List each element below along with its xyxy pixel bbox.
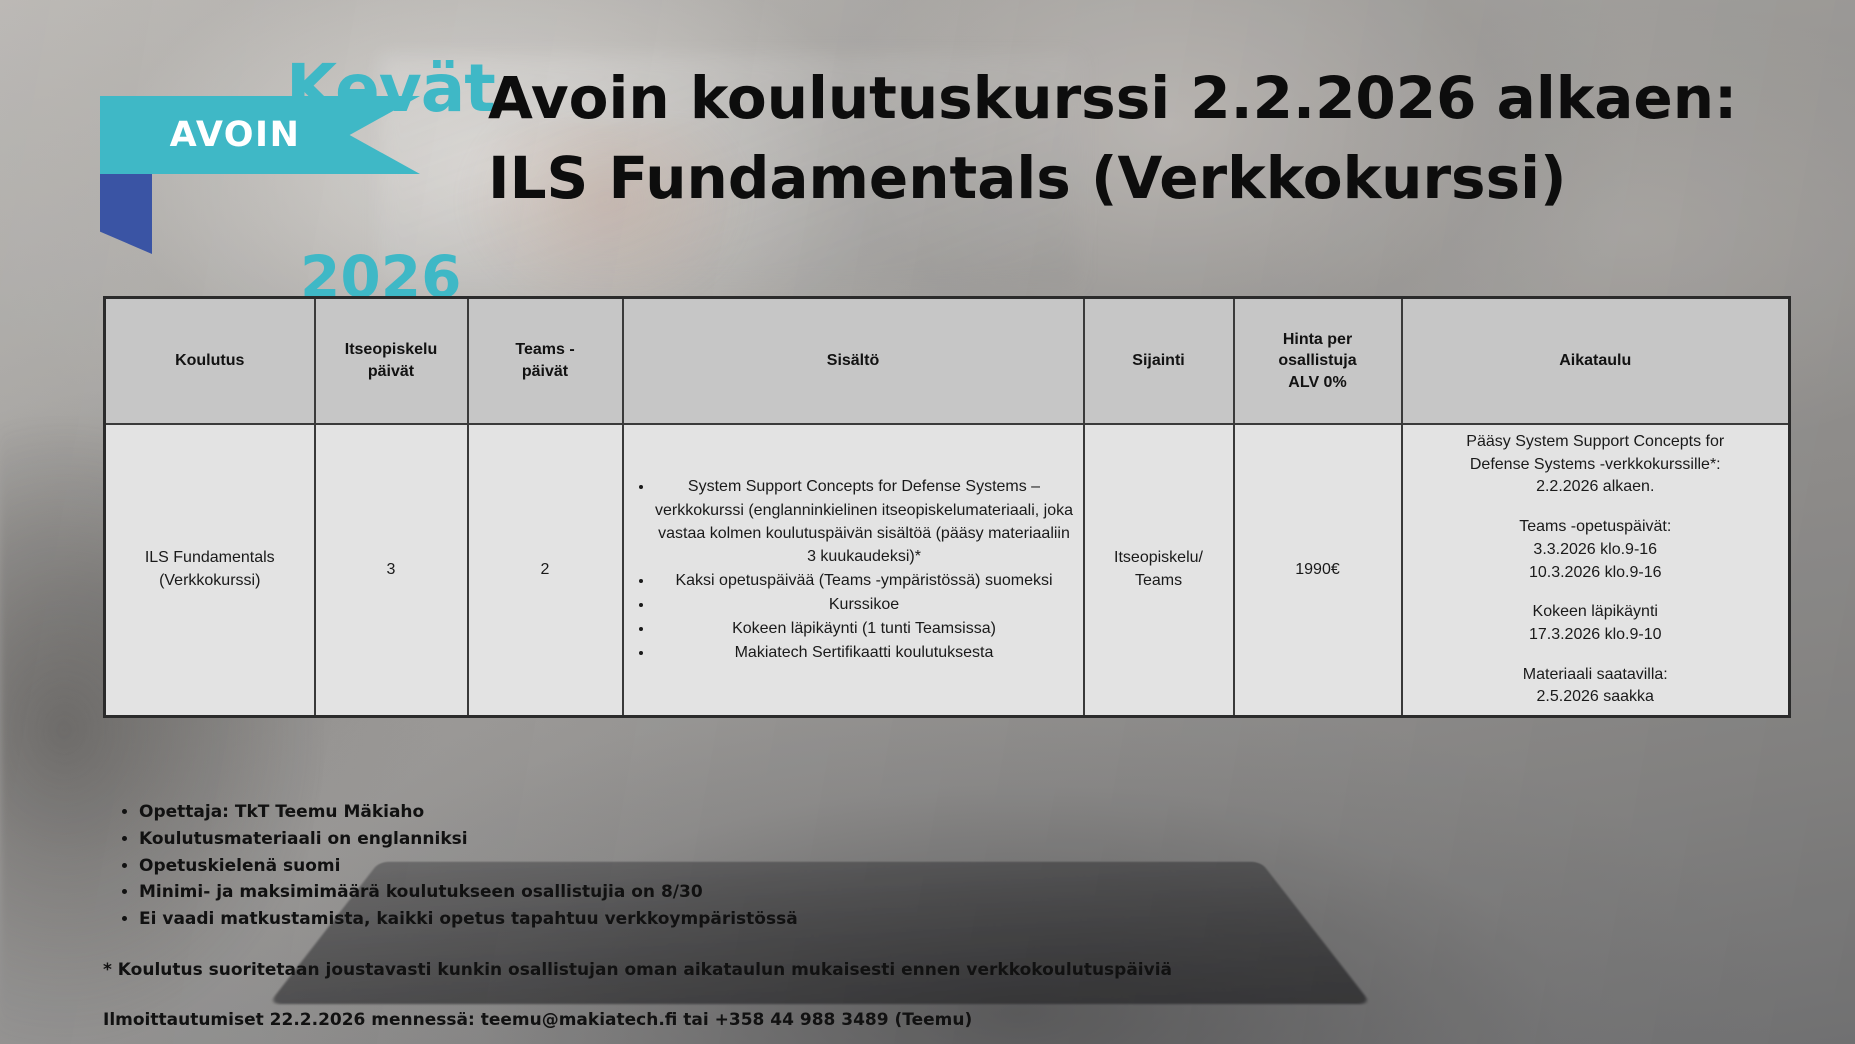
cell-koulutus-line1: ILS Fundamentals (114, 547, 306, 570)
cell-koulutus-line2: (Verkkokurssi) (114, 570, 306, 593)
column-header-hinta-line2: osallistuja (1243, 350, 1393, 372)
table-row: ILS Fundamentals (Verkkokurssi) 3 2 Syst… (105, 424, 1790, 717)
table-body: ILS Fundamentals (Verkkokurssi) 3 2 Syst… (105, 424, 1790, 717)
column-header-hinta-line1: Hinta per (1243, 329, 1393, 351)
list-item: Opetuskielenä suomi (139, 854, 1239, 880)
cell-teams-paivat: 2 (468, 424, 623, 717)
schedule-material-line1: Materiaali saatavilla: (1411, 664, 1781, 687)
schedule-access-line1: Pääsy System Support Concepts for (1411, 431, 1781, 454)
column-header-aikataulu-text: Aikataulu (1559, 352, 1631, 369)
cell-sijainti-line1: Itseopiskelu/ (1093, 547, 1225, 570)
schedule-spacer (1411, 584, 1781, 601)
list-item: Minimi- ja maksimimäärä koulutukseen osa… (139, 880, 1239, 906)
schedule-block-access: Pääsy System Support Concepts for Defens… (1411, 431, 1781, 499)
schedule-teams-line2: 3.3.2026 klo.9-16 (1411, 539, 1781, 562)
schedule-block-teams: Teams -opetuspäivät: 3.3.2026 klo.9-16 1… (1411, 516, 1781, 584)
footnote-text: * Koulutus suoritetaan joustavasti kunki… (103, 960, 1172, 980)
schedule-spacer (1411, 647, 1781, 664)
sisalto-list: System Support Concepts for Defense Syst… (632, 475, 1075, 663)
column-header-teams-paivat: Teams - päivät (468, 298, 623, 425)
cell-itseopiskelu-paivat: 3 (315, 424, 468, 717)
schedule-exam-line2: 17.3.2026 klo.9-10 (1411, 624, 1781, 647)
list-item: Kurssikoe (654, 593, 1075, 616)
column-header-teams-line2: päivät (477, 361, 614, 383)
column-header-itseopiskelu-paivat: Itseopiskelu päivät (315, 298, 468, 425)
season-banner: Kevät AVOIN 2026 (100, 48, 440, 258)
cell-sisalto: System Support Concepts for Defense Syst… (623, 424, 1084, 717)
cell-hinta: 1990€ (1234, 424, 1402, 717)
column-header-teams-line1: Teams - (477, 339, 614, 361)
list-item: System Support Concepts for Defense Syst… (654, 475, 1075, 567)
schedule-block-exam: Kokeen läpikäynti 17.3.2026 klo.9-10 (1411, 601, 1781, 646)
course-table: Koulutus Itseopiskelu päivät Teams - päi… (103, 296, 1791, 718)
schedule-block-material: Materiaali saatavilla: 2.5.2026 saakka (1411, 664, 1781, 709)
table-header: Koulutus Itseopiskelu päivät Teams - päi… (105, 298, 1790, 425)
column-header-itseopiskelu-line2: päivät (324, 361, 459, 383)
column-header-hinta: Hinta per osallistuja ALV 0% (1234, 298, 1402, 425)
column-header-sijainti-text: Sijainti (1132, 352, 1184, 369)
banner-tag-label: AVOIN (100, 96, 370, 174)
list-item: Makiatech Sertifikaatti koulutuksesta (654, 641, 1075, 664)
column-header-sisalto-text: Sisältö (827, 352, 879, 369)
cell-koulutus: ILS Fundamentals (Verkkokurssi) (105, 424, 315, 717)
cell-sijainti-line2: Teams (1093, 570, 1225, 593)
page-title-line-1: Avoin koulutuskurssi 2.2.2026 alkaen: (488, 58, 1798, 138)
banner-ribbon-tail (100, 174, 152, 254)
page-title-line-2: ILS Fundamentals (Verkkokurssi) (488, 138, 1798, 218)
page-title: Avoin koulutuskurssi 2.2.2026 alkaen: IL… (488, 58, 1798, 218)
list-item: Kokeen läpikäynti (1 tunti Teamsissa) (654, 617, 1075, 640)
cell-aikataulu: Pääsy System Support Concepts for Defens… (1402, 424, 1790, 717)
column-header-sisalto: Sisältö (623, 298, 1084, 425)
column-header-itseopiskelu-line1: Itseopiskelu (324, 339, 459, 361)
notes-list: Opettaja: TkT Teemu Mäkiaho Koulutusmate… (103, 800, 1239, 934)
schedule-exam-line1: Kokeen läpikäynti (1411, 601, 1781, 624)
column-header-hinta-line3: ALV 0% (1243, 372, 1393, 394)
list-item: Kaksi opetuspäivää (Teams -ympäristössä)… (654, 569, 1075, 592)
list-item: Ei vaadi matkustamista, kaikki opetus ta… (139, 907, 1239, 933)
schedule-teams-line3: 10.3.2026 klo.9-16 (1411, 562, 1781, 585)
schedule-teams-line1: Teams -opetuspäivät: (1411, 516, 1781, 539)
list-item: Koulutusmateriaali on englanniksi (139, 827, 1239, 853)
column-header-aikataulu: Aikataulu (1402, 298, 1790, 425)
column-header-sijainti: Sijainti (1084, 298, 1234, 425)
schedule-spacer (1411, 499, 1781, 516)
cell-sijainti: Itseopiskelu/ Teams (1084, 424, 1234, 717)
schedule-access-line3: 2.2.2026 alkaen. (1411, 476, 1781, 499)
column-header-koulutus: Koulutus (105, 298, 315, 425)
list-item: Opettaja: TkT Teemu Mäkiaho (139, 800, 1239, 826)
column-header-koulutus-text: Koulutus (175, 352, 244, 369)
schedule-material-line2: 2.5.2026 saakka (1411, 686, 1781, 709)
schedule-access-line2: Defense Systems -verkkokurssille*: (1411, 454, 1781, 477)
table-header-row: Koulutus Itseopiskelu päivät Teams - päi… (105, 298, 1790, 425)
signup-info: Ilmoittautumiset 22.2.2026 mennessä: tee… (103, 1010, 972, 1030)
